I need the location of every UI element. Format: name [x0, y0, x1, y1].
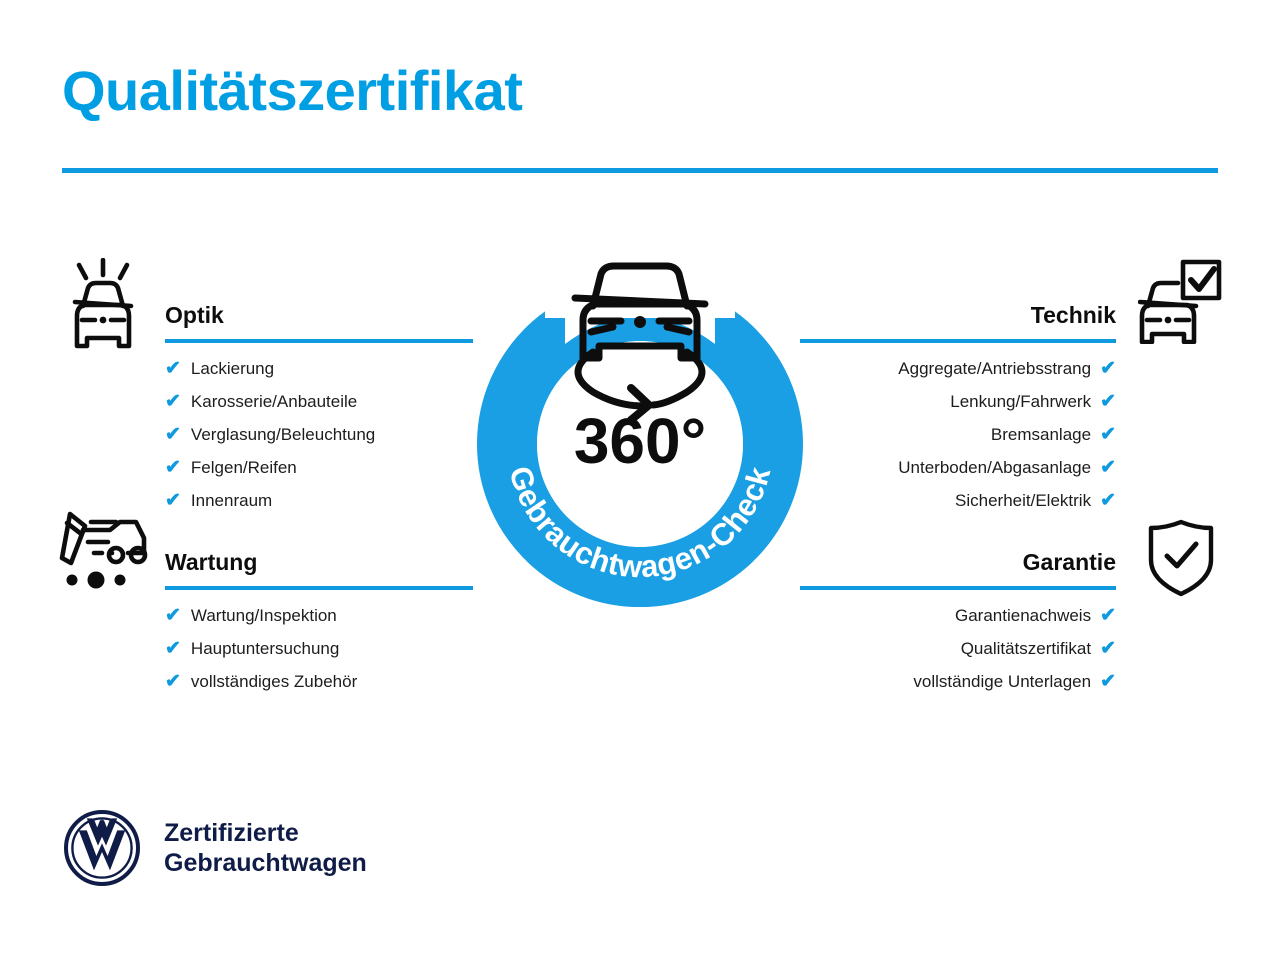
checklist-garantie: Garantienachweis✔ Qualitätszertifikat✔ v…: [800, 606, 1116, 691]
checklist-technik: Aggregate/Antriebsstrang✔ Lenkung/Fahrwe…: [800, 359, 1116, 510]
list-item: Aggregate/Antriebsstrang✔: [800, 359, 1116, 378]
list-item-label: Bremsanlage: [991, 426, 1091, 443]
check-icon: ✔: [1100, 458, 1116, 477]
list-item: Garantienachweis✔: [800, 606, 1116, 625]
list-item-label: Unterboden/Abgasanlage: [898, 459, 1091, 476]
check-icon: ✔: [165, 672, 181, 691]
checklist-wartung: ✔Wartung/Inspektion ✔Hauptuntersuchung ✔…: [165, 606, 473, 691]
list-item-label: Verglasung/Beleuchtung: [191, 426, 375, 443]
list-item: Qualitätszertifikat✔: [800, 639, 1116, 658]
list-item: Unterboden/Abgasanlage✔: [800, 458, 1116, 477]
section-title-wartung: Wartung: [165, 549, 473, 577]
header-divider: [62, 168, 1218, 173]
check-icon: ✔: [165, 458, 181, 477]
list-item: ✔Innenraum: [165, 491, 473, 510]
list-item-label: Hauptuntersuchung: [191, 640, 339, 657]
certificate-page: Qualitätszertifikat: [0, 0, 1280, 960]
section-title-garantie: Garantie: [800, 549, 1116, 577]
car-service-pen-icon: [58, 508, 150, 590]
check-icon: ✔: [1100, 672, 1116, 691]
check-icon: ✔: [1100, 392, 1116, 411]
badge-360-gebrauchtwagen-check: Gebrauchtwagen-Check 360°: [455, 248, 825, 620]
list-item-label: Sicherheit/Elektrik: [955, 492, 1091, 509]
check-icon: ✔: [165, 359, 181, 378]
list-item-label: Lackierung: [191, 360, 274, 377]
list-item-label: vollständiges Zubehör: [191, 673, 357, 690]
list-item-label: Lenkung/Fahrwerk: [950, 393, 1091, 410]
section-divider-technik: [800, 339, 1116, 343]
list-item: ✔Felgen/Reifen: [165, 458, 473, 477]
section-title-technik: Technik: [800, 302, 1116, 330]
section-divider-optik: [165, 339, 473, 343]
checklist-optik: ✔Lackierung ✔Karosserie/Anbauteile ✔Verg…: [165, 359, 473, 510]
list-item-label: Innenraum: [191, 492, 272, 509]
check-icon: ✔: [165, 639, 181, 658]
check-icon: ✔: [1100, 606, 1116, 625]
footer-line-2: Gebrauchtwagen: [164, 848, 367, 879]
list-item-label: Aggregate/Antriebsstrang: [898, 360, 1091, 377]
list-item: ✔Verglasung/Beleuchtung: [165, 425, 473, 444]
check-icon: ✔: [1100, 425, 1116, 444]
car-shine-icon: [62, 258, 144, 350]
list-item: vollständige Unterlagen✔: [800, 672, 1116, 691]
list-item-label: Qualitätszertifikat: [961, 640, 1091, 657]
section-divider-wartung: [165, 586, 473, 590]
list-item: ✔Lackierung: [165, 359, 473, 378]
footer-line-1: Zertifizierte: [164, 818, 367, 849]
list-item: ✔Karosserie/Anbauteile: [165, 392, 473, 411]
car-checkbox-icon: [1138, 258, 1222, 344]
list-item: ✔vollständiges Zubehör: [165, 672, 473, 691]
section-garantie: Garantie Garantienachweis✔ Qualitätszert…: [800, 549, 1116, 705]
check-icon: ✔: [165, 491, 181, 510]
section-optik: Optik ✔Lackierung ✔Karosserie/Anbauteile…: [165, 302, 473, 524]
section-title-optik: Optik: [165, 302, 473, 330]
list-item: Bremsanlage✔: [800, 425, 1116, 444]
check-icon: ✔: [165, 606, 181, 625]
page-title: Qualitätszertifikat: [62, 60, 522, 122]
list-item: ✔Hauptuntersuchung: [165, 639, 473, 658]
section-divider-garantie: [800, 586, 1116, 590]
section-technik: Technik Aggregate/Antriebsstrang✔ Lenkun…: [800, 302, 1116, 524]
vw-logo-icon: [62, 808, 142, 888]
list-item-label: Karosserie/Anbauteile: [191, 393, 357, 410]
section-wartung: Wartung ✔Wartung/Inspektion ✔Hauptunters…: [165, 549, 473, 705]
list-item-label: vollständige Unterlagen: [913, 673, 1091, 690]
check-icon: ✔: [165, 392, 181, 411]
footer-wordmark: Zertifizierte Gebrauchtwagen: [164, 818, 367, 879]
check-icon: ✔: [1100, 639, 1116, 658]
list-item-label: Felgen/Reifen: [191, 459, 297, 476]
check-icon: ✔: [165, 425, 181, 444]
list-item: Lenkung/Fahrwerk✔: [800, 392, 1116, 411]
list-item-label: Garantienachweis: [955, 607, 1091, 624]
footer-brand: Zertifizierte Gebrauchtwagen: [62, 808, 367, 888]
check-icon: ✔: [1100, 491, 1116, 510]
list-item-label: Wartung/Inspektion: [191, 607, 337, 624]
list-item: ✔Wartung/Inspektion: [165, 606, 473, 625]
shield-check-icon: [1146, 518, 1216, 598]
check-icon: ✔: [1100, 359, 1116, 378]
list-item: Sicherheit/Elektrik✔: [800, 491, 1116, 510]
